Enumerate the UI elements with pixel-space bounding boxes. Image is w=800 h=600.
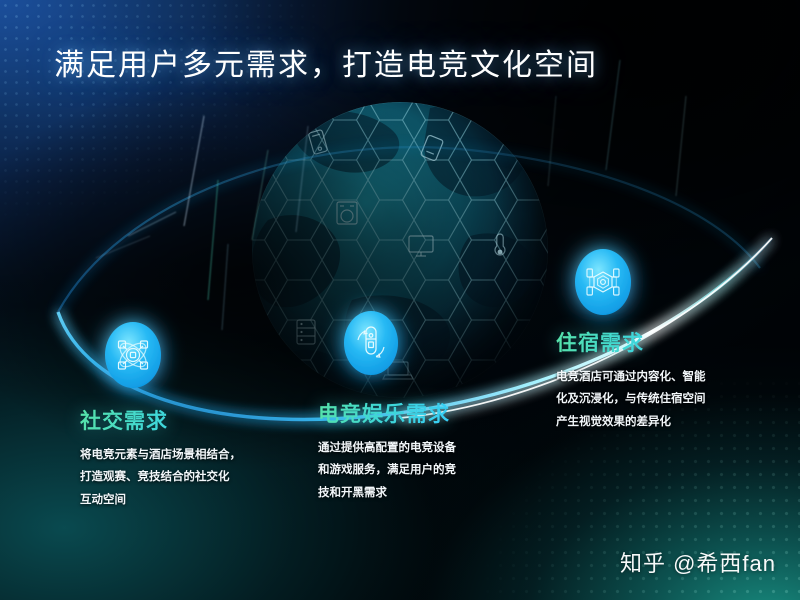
card-gaming: 电竞娱乐需求 通过提供高配置的电竞设备 和游戏服务，满足用户的竞 技和开黑需求 (318, 398, 456, 504)
card-social-heading: 社交需求 (80, 405, 241, 435)
card-stay-body: 电竞酒店可通过内容化、智能 化及沉浸化，与传统住宿空间 产生视觉效果的差异化 (556, 366, 706, 433)
card-social-body: 将电竞元素与酒店场景相结合， 打造观赛、竞技结合的社交化 互动空间 (80, 444, 241, 511)
card-social: 社交需求 将电竞元素与酒店场景相结合， 打造观赛、竞技结合的社交化 互动空间 (80, 405, 241, 511)
node-stay[interactable] (575, 249, 631, 315)
node-social[interactable] (105, 322, 161, 388)
presentation-slide: 满足用户多元需求，打造电竞文化空间 社交需求 将电竞元素与酒店场景相结合， 打造… (0, 0, 800, 600)
card-stay-heading: 住宿需求 (556, 327, 706, 357)
card-stay: 住宿需求 电竞酒店可通过内容化、智能 化及沉浸化，与传统住宿空间 产生视觉效果的… (556, 327, 706, 433)
card-gaming-heading: 电竞娱乐需求 (318, 398, 456, 428)
node-gaming[interactable] (344, 311, 398, 375)
card-gaming-body: 通过提供高配置的电竞设备 和游戏服务，满足用户的竞 技和开黑需求 (318, 437, 456, 504)
page-title: 满足用户多元需求，打造电竞文化空间 (54, 40, 598, 84)
watermark: 知乎 @希西fan (620, 546, 776, 578)
